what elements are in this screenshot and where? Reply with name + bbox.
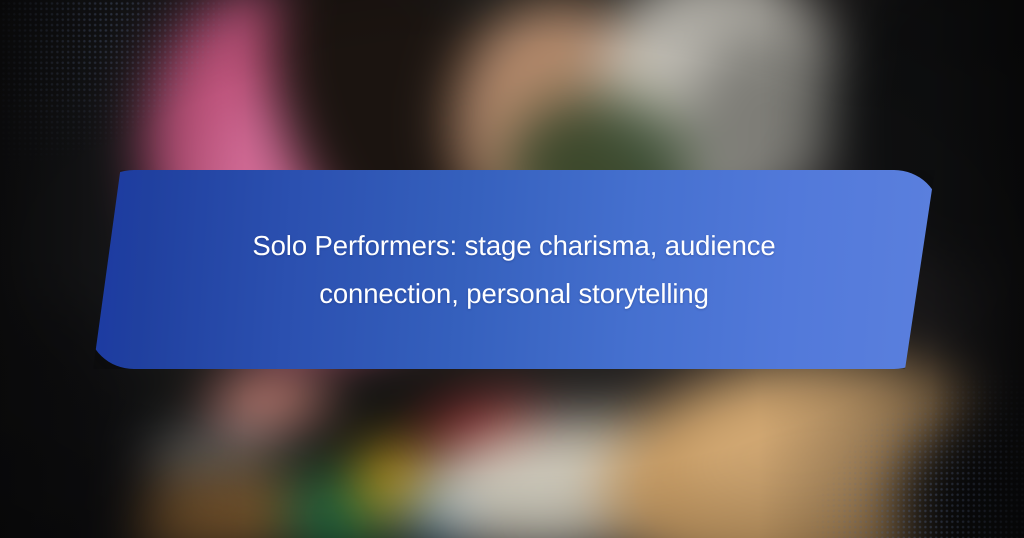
quote-banner-card: Solo Performers: stage charisma, audienc…: [88, 170, 940, 369]
screenshot-canvas: Solo Performers: stage charisma, audienc…: [0, 0, 1024, 538]
quote-banner-text: Solo Performers: stage charisma, audienc…: [174, 222, 854, 318]
quote-line-1: Solo Performers: stage charisma, audienc…: [252, 230, 775, 261]
quote-line-2: connection, personal storytelling: [319, 278, 709, 309]
